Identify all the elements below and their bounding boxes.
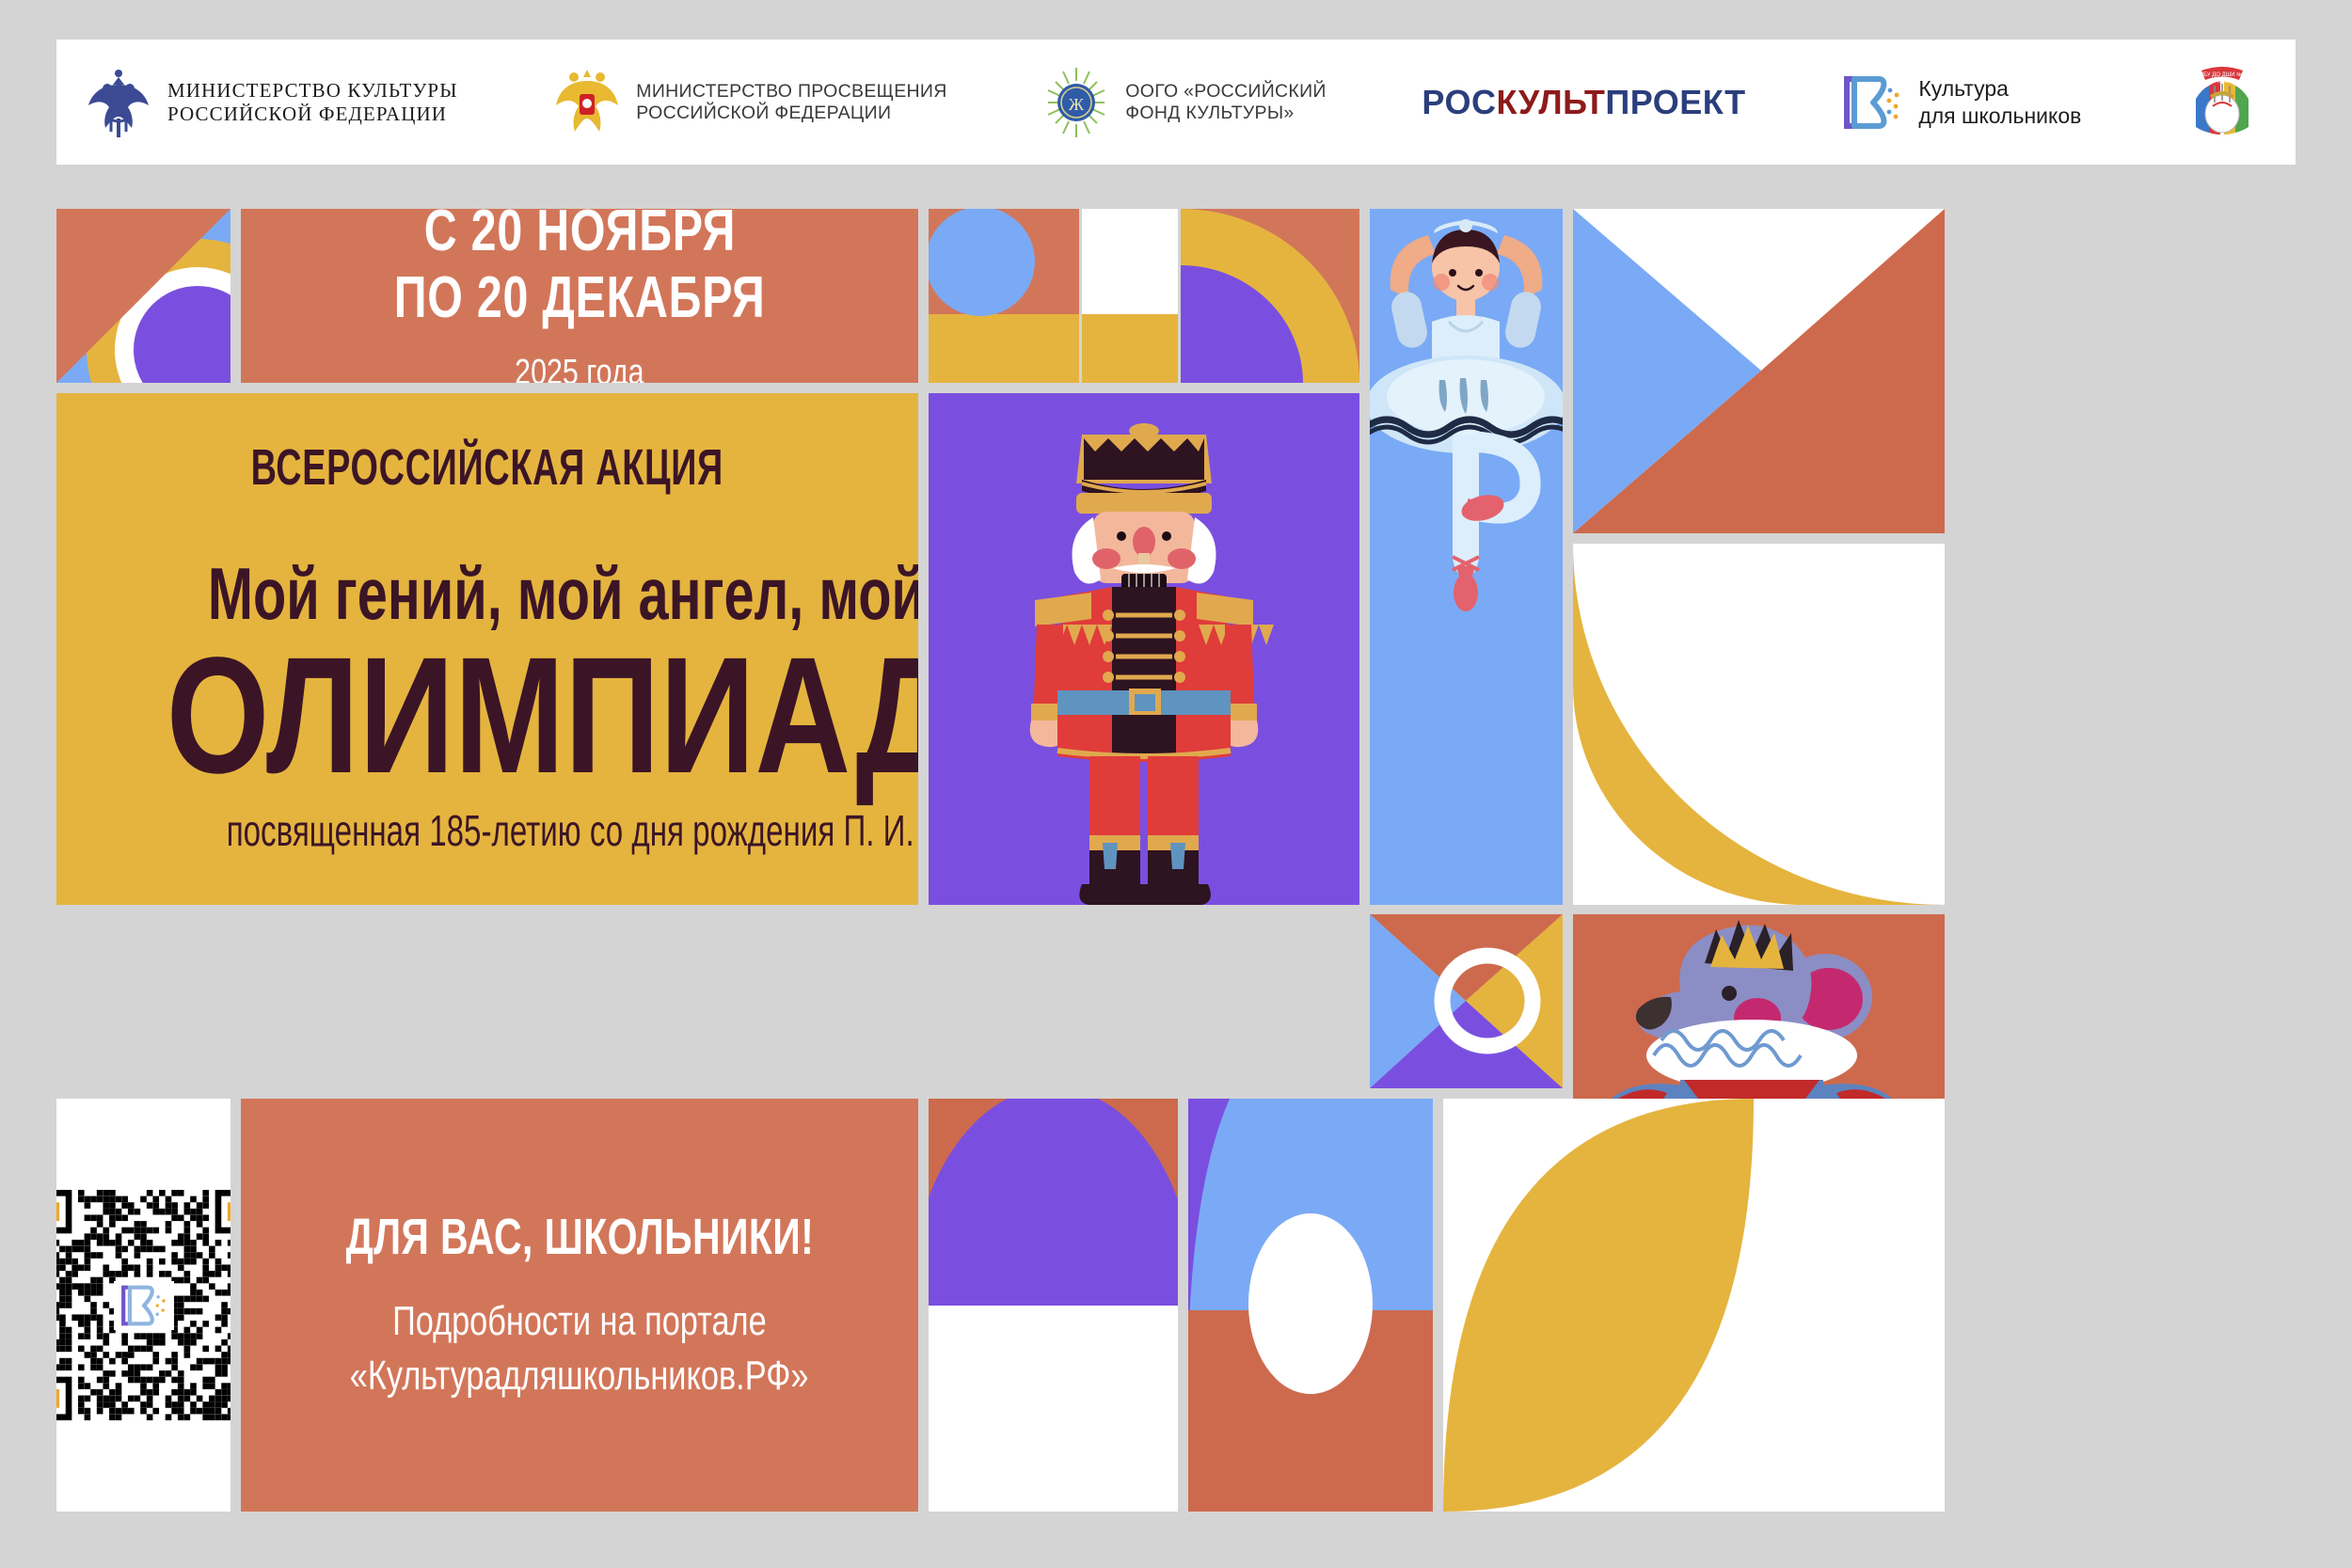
cta-block: ДЛЯ ВАС, ШКОЛЬНИКИ! Подробности на порта… (241, 1099, 918, 1512)
date-line-2: ПО 20 ДЕКАБРЯ (394, 265, 766, 332)
header-logo-bar: МИНИСТЕРСТВО КУЛЬТУРЫ РОССИЙСКОЙ ФЕДЕРАЦ… (56, 40, 2296, 165)
page-title: ОЛИМПИАДА (56, 633, 918, 799)
main-headline-block: ВСЕРОССИЙСКАЯ АКЦИЯ Мой гений, мой ангел… (56, 393, 918, 905)
date-line-1: С 20 НОЯБРЯ (423, 209, 735, 265)
dedication-text: посвященная 185-летию со дня рождения П.… (56, 805, 918, 856)
qr-code[interactable] (56, 1190, 230, 1420)
logo-russian-culture-fund-line1: ООГО «РОССИЙСКИЙ (1125, 81, 1326, 103)
kdsh-line2: для школьников (1918, 103, 2081, 129)
ellipse-and-dot-tile (1188, 1099, 1433, 1512)
four-triangles-with-ring-tile (1370, 914, 1563, 1088)
logo-culture-for-schoolchildren: Культура для школьников (1841, 73, 2081, 132)
svg-text:МБУ ДО ДШИ №1: МБУ ДО ДШИ №1 (2199, 71, 2247, 78)
sunburst-monogram-emblem-icon: Ж (1042, 66, 1110, 139)
roskultproekt-part1: РОС (1422, 83, 1496, 121)
kicker-text: ВСЕРОССИЙСКАЯ АКЦИЯ (56, 438, 918, 497)
logo-russian-culture-fund-line2: ФОНД КУЛЬТУРЫ» (1125, 103, 1326, 124)
cta-line-1: Подробности на портале (340, 1294, 819, 1348)
quarter-arc-tile (1181, 209, 1359, 383)
date-year: 2025 года (515, 353, 644, 383)
white-square-tile (1082, 209, 1178, 314)
gold-ring-tile (1573, 544, 1945, 905)
svg-text:им. П. Чайковского: им. П. Чайковского (2200, 78, 2244, 85)
nutcracker-illustration (929, 393, 1359, 905)
logo-ministry-of-education-line2: РОССИЙСКОЙ ФЕДЕРАЦИИ (636, 103, 946, 124)
gold-square-tile (1082, 314, 1178, 383)
svg-text:Ж: Ж (1069, 95, 1085, 114)
diagonal-split-tile (1573, 209, 1945, 533)
logo-roskultproekt: РОСКУЛЬТПРОЕКТ (1422, 83, 1745, 122)
logo-ministry-of-education-line1: МИНИСТЕРСТВО ПРОСВЕЩЕНИЯ (636, 81, 946, 103)
cta-line-2: «Культурадляшкольников.РФ» (285, 1349, 873, 1402)
qr-code-tile[interactable] (56, 1099, 230, 1512)
logo-ministry-of-education: МИНИСТЕРСТВО ПРОСВЕЩЕНИЯ РОССИЙСКОЙ ФЕДЕ… (553, 66, 946, 139)
leaf-shape-tile (1443, 1099, 1945, 1512)
logo-ministry-of-culture-line1: МИНИСТЕРСТВО КУЛЬТУРЫ (167, 79, 458, 103)
logo-russian-culture-fund: Ж ООГО «РОССИЙСКИЙ ФОНД КУЛЬТУРЫ» (1042, 66, 1326, 139)
roskultproekt-part3: ПРОЕКТ (1605, 83, 1745, 121)
date-tile: С 20 НОЯБРЯ ПО 20 ДЕКАБРЯ 2025 года (241, 209, 918, 383)
russian-coat-of-arms-emblem-icon (553, 66, 621, 139)
double-headed-eagle-lyre-emblem-icon (85, 66, 152, 139)
kdsh-line1: Культура (1918, 75, 2081, 102)
ballerina-illustration (1370, 209, 1563, 905)
logo-ministry-of-culture-line2: РОССИЙСКОЙ ФЕДЕРАЦИИ (167, 103, 458, 126)
roskultproekt-part2: КУЛЬТ (1496, 83, 1605, 121)
circle-and-square-tile (929, 209, 1079, 383)
logo-ministry-of-culture: МИНИСТЕРСТВО КУЛЬТУРЫ РОССИЙСКОЙ ФЕДЕРАЦ… (85, 66, 458, 139)
logo-dshi-tchaikovsky: МБУ ДО ДШИ №1 им. П. Чайковского (2177, 57, 2267, 148)
poster-mosaic-grid: С 20 НОЯБРЯ ПО 20 ДЕКАБРЯ 2025 года (56, 209, 2296, 1512)
kdsh-bracket-logo-icon (114, 1281, 174, 1330)
kdsh-bracket-logo-icon (1841, 73, 1903, 132)
concentric-arcs-tile (56, 209, 230, 383)
half-circles-tile (929, 1099, 1178, 1512)
cta-heading: ДЛЯ ВАС, ШКОЛЬНИКИ! (272, 1208, 888, 1266)
